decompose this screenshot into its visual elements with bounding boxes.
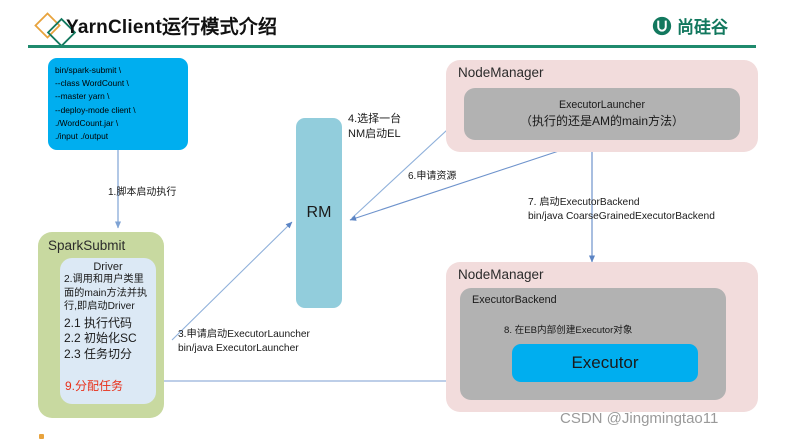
driver-box: Driver 2.调用和用户类里 面的main方法并执 行,即启动Driver … (60, 258, 156, 404)
annotation-step1: 1.脚本启动执行 (108, 186, 176, 200)
executor-backend-label: ExecutorBackend (472, 294, 557, 306)
annotation-step3: 3.申请启动ExecutorLauncher bin/java Executor… (178, 328, 310, 355)
sparksubmit-label: SparkSubmit (48, 238, 125, 253)
executor-launcher-subtitle: （执行的还是AM的main方法） (520, 112, 684, 129)
brand-logo-group: 尚硅谷 (652, 13, 728, 38)
node-manager-bottom-label: NodeManager (458, 267, 544, 282)
header-divider (28, 45, 756, 48)
spark-submit-command-box: bin/spark-submit \ --class WordCount \ -… (48, 58, 188, 150)
annotation-step7: 7. 启动ExecutorBackend bin/java CoarseGrai… (528, 196, 715, 224)
annotation-step4: 4.选择一台 NM启动EL (348, 112, 401, 142)
node-manager-top-box: NodeManager ExecutorLauncher （执行的还是AM的ma… (446, 60, 758, 152)
annotation-step6: 6.申请资源 (408, 170, 456, 184)
shangguigu-u-icon (652, 16, 672, 36)
driver-allocate-tasks: 9.分配任务 (65, 377, 123, 394)
executor-backend-note: 8. 在EB内部创建Executor对象 (504, 322, 632, 336)
executor-launcher-title: ExecutorLauncher (559, 99, 645, 111)
slide-header: YarnClient运行模式介绍 尚硅谷 (0, 0, 786, 52)
driver-description: 2.调用和用户类里 面的main方法并执 行,即启动Driver (60, 273, 156, 314)
slide-canvas: YarnClient运行模式介绍 尚硅谷 (0, 0, 786, 440)
node-manager-top-label: NodeManager (458, 65, 544, 80)
executor-backend-box: ExecutorBackend 8. 在EB内部创建Executor对象 Exe… (460, 288, 726, 400)
csdn-watermark: CSDN @Jingmingtao11 (560, 410, 718, 427)
brand-name: 尚硅谷 (677, 13, 728, 38)
driver-steps: 2.1 执行代码 2.2 初始化SC 2.3 任务切分 (60, 314, 156, 363)
arrow-step3-request-launcher (172, 222, 292, 340)
resource-manager-box: RM (296, 118, 342, 308)
page-title: YarnClient运行模式介绍 (66, 12, 277, 39)
sparksubmit-box: SparkSubmit Driver 2.调用和用户类里 面的main方法并执 … (38, 232, 164, 418)
executor-box: Executor (512, 344, 698, 382)
driver-title: Driver (60, 261, 156, 273)
node-manager-bottom-box: NodeManager ExecutorBackend 8. 在EB内部创建Ex… (446, 262, 758, 412)
corner-marker-dot (39, 434, 44, 439)
executor-launcher-box: ExecutorLauncher （执行的还是AM的main方法） (464, 88, 740, 140)
